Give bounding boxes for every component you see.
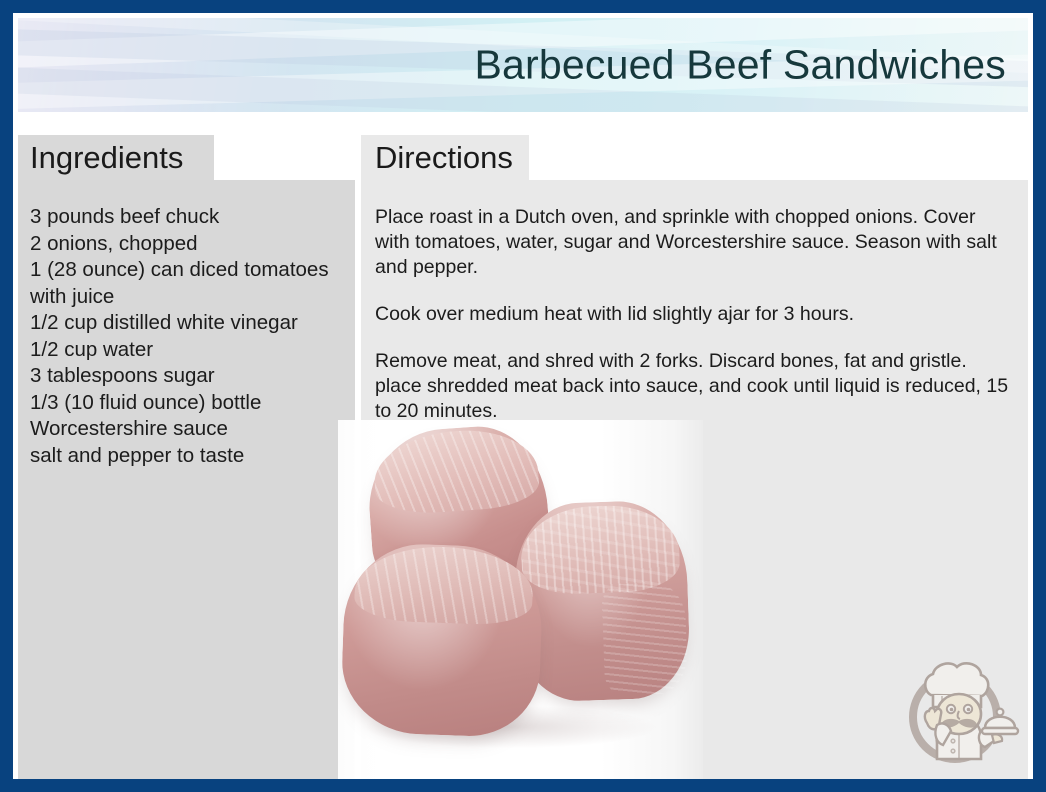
ingredient-item: 2 onions, chopped [30,231,343,258]
direction-step: Cook over medium heat with lid slightly … [375,302,1014,327]
direction-step: Place roast in a Dutch oven, and sprinkl… [375,205,1014,280]
ingredient-item: Worcestershire sauce [30,416,343,443]
ingredient-item: 3 pounds beef chuck [30,204,343,231]
ingredient-item: 1 (28 ounce) can diced tomatoes [30,257,343,284]
directions-section-header: Directions [361,135,529,180]
ingredient-item: 1/3 (10 fluid ounce) bottle [30,390,343,417]
ingredients-list: 3 pounds beef chuck 2 onions, chopped 1 … [30,204,343,469]
ingredient-item: 1/2 cup water [30,337,343,364]
direction-step: Remove meat, and shred with 2 forks. Dis… [375,349,1014,424]
ingredients-section-header: Ingredients [18,135,214,180]
raw-beef-chunks-photo [338,420,703,779]
ingredients-panel: 3 pounds beef chuck 2 onions, chopped 1 … [18,180,355,779]
beef-chunk-right-side-face [601,582,687,696]
ingredient-item: 3 tablespoons sugar [30,363,343,390]
recipe-title: Barbecued Beef Sandwiches [474,42,1006,89]
beef-chunk-right-top-face [520,503,681,596]
ingredient-item: with juice [30,284,343,311]
chef-mascot-logo [897,651,1021,769]
ingredient-item: salt and pepper to taste [30,443,343,470]
ingredient-item: 1/2 cup distilled white vinegar [30,310,343,337]
recipe-slide: Barbecued Beef Sandwiches Ingredients Di… [0,0,1046,792]
slide-inner-area: Barbecued Beef Sandwiches Ingredients Di… [13,13,1033,779]
title-banner: Barbecued Beef Sandwiches [18,18,1028,112]
beef-chunk-front [340,542,545,739]
beef-chunk-back-top-face [372,426,541,516]
